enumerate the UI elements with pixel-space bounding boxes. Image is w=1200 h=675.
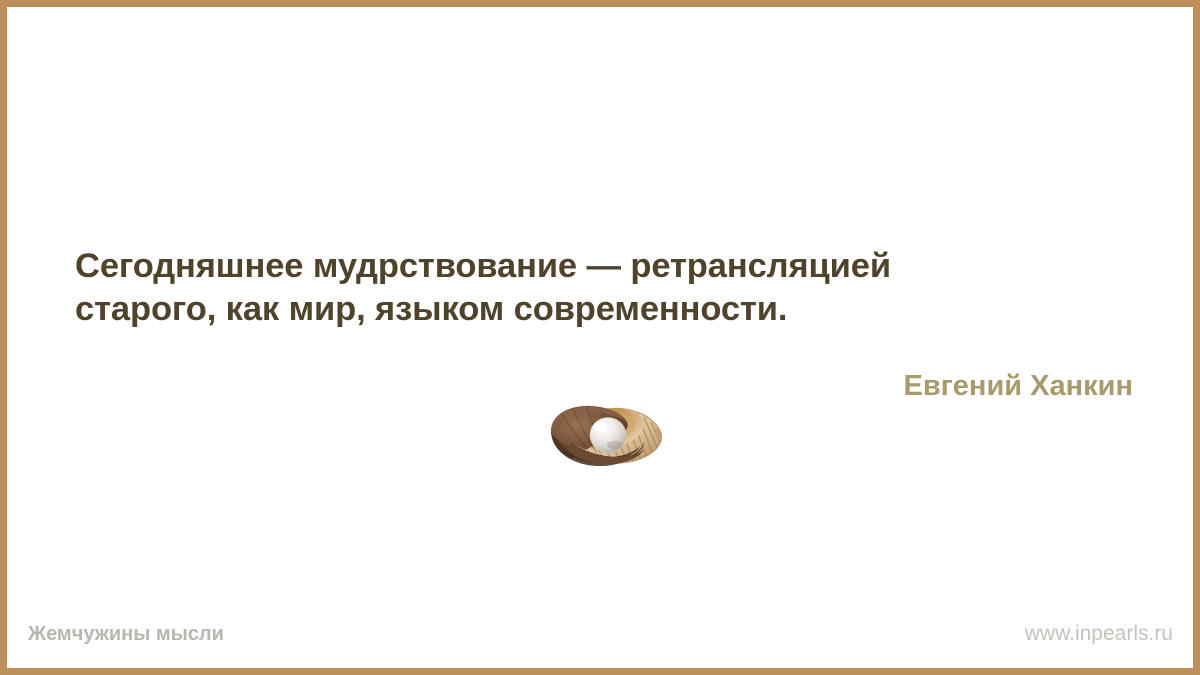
quote-card: Сегодняшнее мудрствование — ретрансляцие… bbox=[0, 0, 1200, 675]
quote-block: Сегодняшнее мудрствование — ретрансляцие… bbox=[75, 245, 1147, 331]
footer-site-name: Жемчужины мысли bbox=[28, 622, 224, 646]
footer-site-url[interactable]: www.inpearls.ru bbox=[1025, 622, 1173, 646]
pearl bbox=[590, 418, 626, 453]
quote-author: Евгений Ханкин bbox=[433, 369, 1133, 403]
oyster-shell-with-pearl-icon bbox=[543, 399, 667, 467]
quote-line-1: Сегодняшнее мудрствование — ретрансляцие… bbox=[75, 245, 1147, 288]
quote-line-2: старого, как мир, языком современности. bbox=[75, 288, 1147, 331]
